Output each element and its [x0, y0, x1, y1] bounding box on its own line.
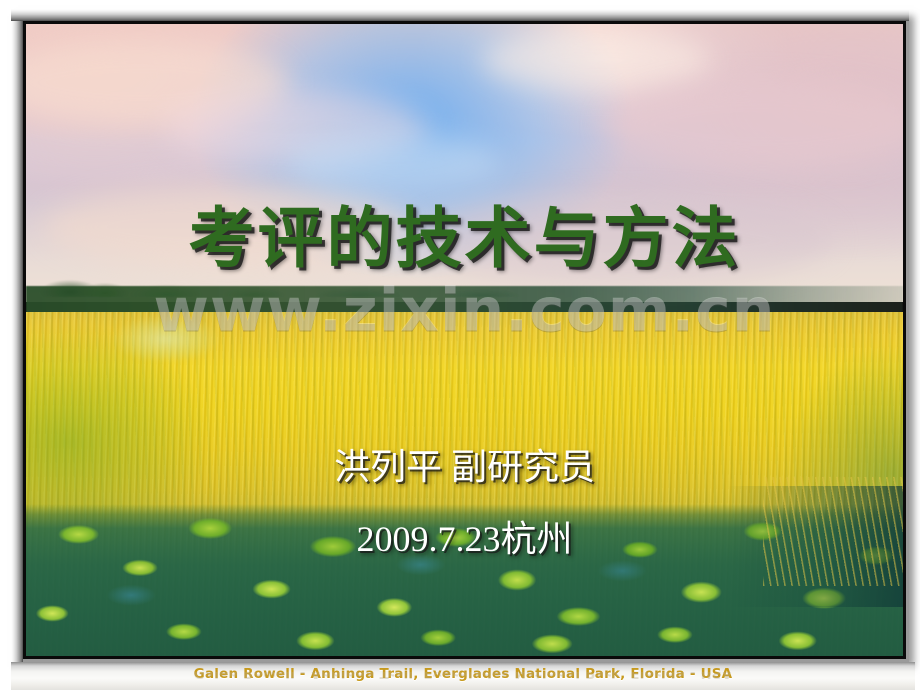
photo-frame: www.zixin.com.cn 考评的技术与方法 洪列平 副研究员 2009.… [11, 9, 909, 662]
cloud [482, 30, 710, 91]
frame-bevel-left [11, 9, 23, 662]
subtitle-presenter: 洪列平 副研究员 [26, 449, 903, 485]
frame-bevel-top [11, 9, 909, 21]
cloud [289, 135, 499, 191]
photo-caption-bar: Galen Rowell - Anhinga Trail, Everglades… [11, 662, 915, 690]
subtitle-date-location: 2009.7.23杭州 [26, 521, 903, 557]
everglades-photograph: www.zixin.com.cn 考评的技术与方法 洪列平 副研究员 2009.… [26, 24, 903, 656]
foreground-bush [96, 308, 236, 370]
slide-title: 考评的技术与方法 [26, 206, 903, 272]
presentation-slide: www.zixin.com.cn 考评的技术与方法 洪列平 副研究员 2009.… [0, 0, 920, 690]
slide-subtitle: 洪列平 副研究员 2009.7.23杭州 [26, 449, 903, 557]
cloud [605, 80, 903, 169]
photo-frame-inner: www.zixin.com.cn 考评的技术与方法 洪列平 副研究员 2009.… [23, 21, 906, 659]
photo-caption-reflection: Galen Rowell - Anhinga Trail, Everglades… [11, 672, 915, 681]
